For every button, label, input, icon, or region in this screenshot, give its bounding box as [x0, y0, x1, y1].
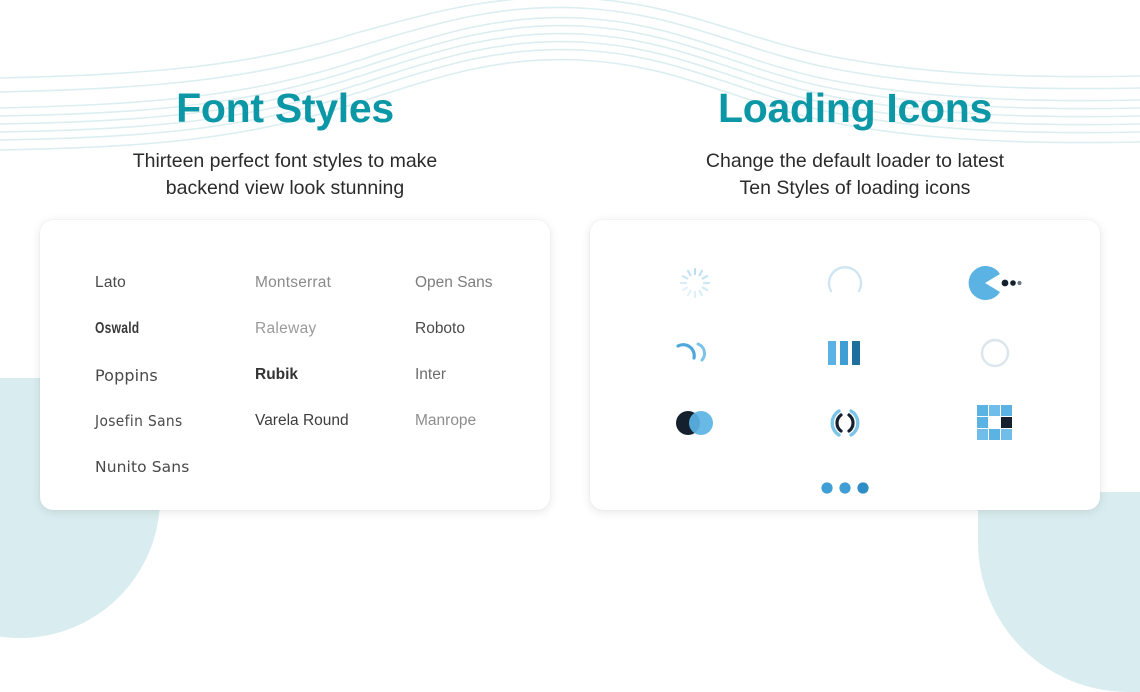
- pacman-dots-icon: [968, 266, 1022, 300]
- loader-item-three-bars[interactable]: [810, 323, 880, 383]
- page-subtitle-loaders: Change the default loader to latest Ten …: [570, 148, 1140, 202]
- font-item-raleway[interactable]: Raleway: [255, 320, 415, 338]
- loader-list: [620, 248, 1070, 458]
- three-dots-icon: [819, 480, 871, 496]
- subtitle-line-1: Thirteen perfect font styles to make: [133, 150, 438, 172]
- loader-item-three-dots[interactable]: [810, 458, 880, 518]
- font-item-rubik[interactable]: Rubik: [255, 366, 415, 384]
- font-item-poppins[interactable]: Poppins: [95, 366, 255, 385]
- loading-icons-card: [590, 220, 1100, 510]
- font-item-roboto[interactable]: Roboto: [415, 320, 545, 338]
- three-bars-icon: [825, 336, 865, 370]
- loader-item-spinner-dashes[interactable]: [660, 253, 730, 313]
- loader-last-row: [590, 458, 1100, 518]
- font-item-lato[interactable]: Lato: [95, 274, 255, 292]
- grid-squares-icon: [976, 404, 1014, 442]
- font-styles-section: Font Styles Thirteen perfect font styles…: [0, 0, 570, 578]
- loader-item-double-arc[interactable]: [660, 323, 730, 383]
- font-styles-card: Lato Montserrat Open Sans Oswald Raleway…: [40, 220, 550, 510]
- content-columns: Font Styles Thirteen perfect font styles…: [0, 0, 1140, 578]
- loader-item-grid-squares[interactable]: [960, 393, 1030, 453]
- facing-brackets-icon: [824, 404, 866, 442]
- loader-item-arc-ring[interactable]: [810, 253, 880, 313]
- two-circles-icon: [671, 407, 719, 439]
- font-item-open-sans[interactable]: Open Sans: [415, 274, 545, 292]
- double-arc-icon: [672, 336, 718, 370]
- loader-item-facing-brackets[interactable]: [810, 393, 880, 453]
- font-item-josefin-sans[interactable]: Josefin Sans: [95, 412, 242, 430]
- loader-item-pacman-dots[interactable]: [960, 253, 1030, 313]
- loading-icons-section: Loading Icons Change the default loader …: [570, 0, 1140, 578]
- page-title-loaders: Loading Icons: [570, 85, 1140, 132]
- loader-item-circle-outline[interactable]: [960, 323, 1030, 383]
- subtitle-line-1: Change the default loader to latest: [706, 150, 1004, 172]
- font-item-oswald[interactable]: Oswald: [95, 320, 220, 338]
- font-item-manrope[interactable]: Manrope: [415, 412, 545, 430]
- font-item-montserrat[interactable]: Montserrat: [255, 274, 415, 292]
- loader-item-two-circles[interactable]: [660, 393, 730, 453]
- circle-outline-icon: [978, 336, 1012, 370]
- font-item-varela-round[interactable]: Varela Round: [255, 412, 415, 430]
- font-list: Lato Montserrat Open Sans Oswald Raleway…: [95, 260, 530, 490]
- subtitle-line-2: backend view look stunning: [166, 177, 405, 199]
- font-item-inter[interactable]: Inter: [415, 366, 545, 384]
- page-title-fonts: Font Styles: [0, 85, 570, 132]
- subtitle-line-2: Ten Styles of loading icons: [740, 177, 971, 199]
- spinner-dashes-icon: [678, 266, 712, 300]
- page-subtitle-fonts: Thirteen perfect font styles to make bac…: [0, 148, 570, 202]
- font-item-nunito-sans[interactable]: Nunito Sans: [95, 458, 255, 476]
- arc-ring-icon: [825, 263, 865, 303]
